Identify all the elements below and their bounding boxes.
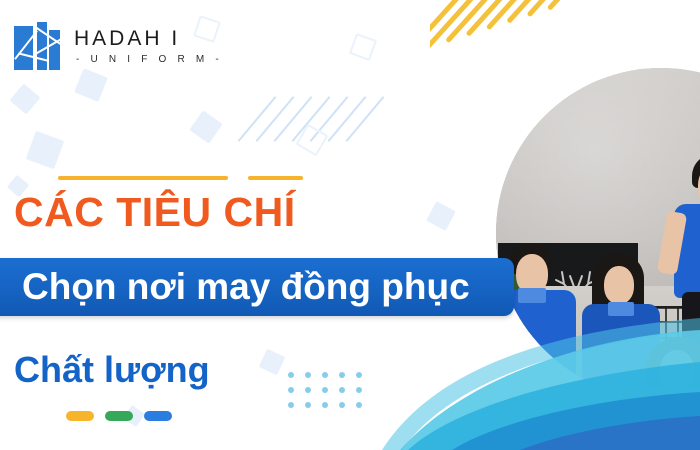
- pill-blue: [144, 411, 172, 421]
- brand-tagline: - U N I F O R M -: [76, 54, 223, 65]
- headline-secondary: Chọn nơi may đồng phục: [22, 263, 522, 311]
- accent-dash-long: [58, 176, 228, 180]
- brand-name: HADAH I: [74, 27, 180, 51]
- accent-dash-short: [248, 176, 303, 180]
- promotional-banner: HADAH I - U N I F O R M - CÁC TIÊU CHÍ C…: [0, 0, 700, 450]
- logo-mark-icon: [14, 22, 60, 70]
- pill-yellow: [66, 411, 94, 421]
- pill-green: [105, 411, 133, 421]
- headline-tertiary: Chất lượng: [14, 348, 210, 392]
- headline-primary: CÁC TIÊU CHÍ: [14, 188, 296, 236]
